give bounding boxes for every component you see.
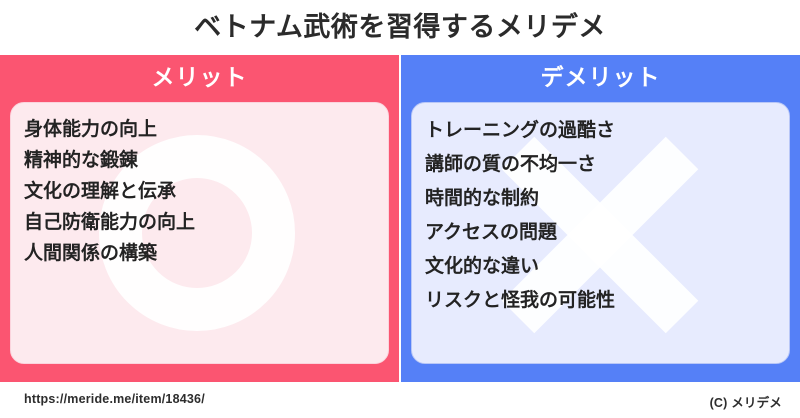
demerit-header-label: デメリット [541, 66, 661, 89]
demerit-column: デメリット トレーニングの過酷さ 講師の質の不均一さ 時間的な制約 アクセスの問… [401, 55, 800, 382]
source-url[interactable]: https://meride.me/item/18436/ [24, 392, 205, 406]
list-item: 身体能力の向上 [24, 114, 388, 145]
footer: https://meride.me/item/18436/ (C) メリデメ [0, 382, 800, 418]
list-item: 人間関係の構築 [24, 238, 388, 269]
merit-header-label: メリット [152, 66, 248, 89]
demerit-header: デメリット [401, 55, 800, 100]
comparison-columns: メリット 身体能力の向上 精神的な鍛錬 文化の理解と伝承 自己防衛能力の向上 人… [0, 55, 800, 382]
list-item: 文化的な違い [425, 250, 789, 284]
list-item: リスクと怪我の可能性 [425, 284, 789, 318]
merit-header: メリット [0, 55, 399, 100]
list-item: アクセスの問題 [425, 216, 789, 250]
list-item: 自己防衛能力の向上 [24, 207, 388, 238]
list-item: 精神的な鍛錬 [24, 145, 388, 176]
merit-list: 身体能力の向上 精神的な鍛錬 文化の理解と伝承 自己防衛能力の向上 人間関係の構… [11, 103, 388, 269]
page-title: ベトナム武術を習得するメリデメ [0, 0, 800, 55]
page-title-text: ベトナム武術を習得するメリデメ [194, 14, 606, 41]
demerit-card: トレーニングの過酷さ 講師の質の不均一さ 時間的な制約 アクセスの問題 文化的な… [411, 102, 790, 364]
list-item: トレーニングの過酷さ [425, 114, 789, 148]
list-item: 講師の質の不均一さ [425, 148, 789, 182]
merit-column: メリット 身体能力の向上 精神的な鍛錬 文化の理解と伝承 自己防衛能力の向上 人… [0, 55, 399, 382]
copyright-label: (C) メリデメ [710, 392, 782, 411]
merit-card: 身体能力の向上 精神的な鍛錬 文化の理解と伝承 自己防衛能力の向上 人間関係の構… [10, 102, 389, 364]
slide-canvas: ベトナム武術を習得するメリデメ メリット 身体能力の向上 精神的な鍛錬 文化の理… [0, 0, 800, 418]
demerit-list: トレーニングの過酷さ 講師の質の不均一さ 時間的な制約 アクセスの問題 文化的な… [412, 103, 789, 318]
list-item: 時間的な制約 [425, 182, 789, 216]
list-item: 文化の理解と伝承 [24, 176, 388, 207]
